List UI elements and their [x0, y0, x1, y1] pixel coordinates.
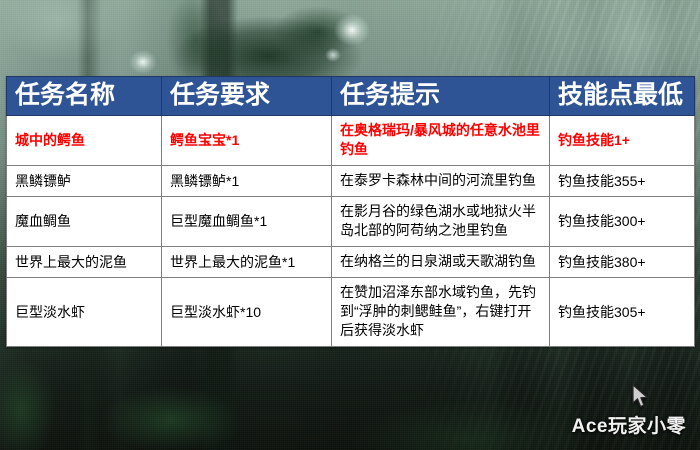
cell-min-skill: 钓鱼技能380+: [550, 247, 695, 278]
table-body: 城中的鳄鱼 鳄鱼宝宝*1 在奥格瑞玛/暴风城的任意水池里钓鱼 钓鱼技能1+ 黑鳞…: [7, 116, 695, 347]
cell-quest-hint: 在纳格兰的日泉湖或天歌湖钓鱼: [332, 247, 550, 278]
cell-min-skill: 钓鱼技能355+: [550, 166, 695, 197]
cell-quest-name: 黑鳞镖鲈: [7, 166, 162, 197]
cell-quest-hint: 在奥格瑞玛/暴风城的任意水池里钓鱼: [332, 116, 550, 166]
cell-min-skill: 钓鱼技能305+: [550, 278, 695, 347]
quest-table: 任务名称 任务要求 任务提示 技能点最低 城中的鳄鱼 鳄鱼宝宝*1 在奥格瑞玛/…: [6, 76, 695, 347]
cell-quest-name: 巨型淡水虾: [7, 278, 162, 347]
cell-min-skill: 钓鱼技能1+: [550, 116, 695, 166]
cell-quest-name: 城中的鳄鱼: [7, 116, 162, 166]
cell-quest-requirement: 巨型淡水虾*10: [162, 278, 332, 347]
cell-quest-requirement: 巨型魔血鲷鱼*1: [162, 197, 332, 247]
table-row: 魔血鲷鱼 巨型魔血鲷鱼*1 在影月谷的绿色湖水或地狱火半岛北部的阿苟纳之池里钓鱼…: [7, 197, 695, 247]
column-header-min-skill: 技能点最低: [550, 77, 695, 116]
cell-quest-hint: 在赞加沼泽东部水域钓鱼，先钓到“浮肿的刺鳃鲑鱼”，右键打开后获得淡水虾: [332, 278, 550, 347]
screenshot-root: 任务名称 任务要求 任务提示 技能点最低 城中的鳄鱼 鳄鱼宝宝*1 在奥格瑞玛/…: [0, 0, 700, 450]
quest-table-container: 任务名称 任务要求 任务提示 技能点最低 城中的鳄鱼 鳄鱼宝宝*1 在奥格瑞玛/…: [6, 76, 694, 347]
column-header-quest-requirement: 任务要求: [162, 77, 332, 116]
cell-min-skill: 钓鱼技能300+: [550, 197, 695, 247]
cell-quest-requirement: 世界上最大的泥鱼*1: [162, 247, 332, 278]
column-header-quest-name: 任务名称: [7, 77, 162, 116]
cell-quest-name: 魔血鲷鱼: [7, 197, 162, 247]
table-row: 世界上最大的泥鱼 世界上最大的泥鱼*1 在纳格兰的日泉湖或天歌湖钓鱼 钓鱼技能3…: [7, 247, 695, 278]
cell-quest-requirement: 鳄鱼宝宝*1: [162, 116, 332, 166]
cell-quest-name: 世界上最大的泥鱼: [7, 247, 162, 278]
table-row: 城中的鳄鱼 鳄鱼宝宝*1 在奥格瑞玛/暴风城的任意水池里钓鱼 钓鱼技能1+: [7, 116, 695, 166]
table-header: 任务名称 任务要求 任务提示 技能点最低: [7, 77, 695, 116]
watermark-label: Ace玩家小零: [572, 411, 686, 438]
column-header-quest-hint: 任务提示: [332, 77, 550, 116]
cell-quest-hint: 在影月谷的绿色湖水或地狱火半岛北部的阿苟纳之池里钓鱼: [332, 197, 550, 247]
mouse-cursor-icon: [630, 384, 652, 410]
table-row: 黑鳞镖鲈 黑鳞镖鲈*1 在泰罗卡森林中间的河流里钓鱼 钓鱼技能355+: [7, 166, 695, 197]
cell-quest-requirement: 黑鳞镖鲈*1: [162, 166, 332, 197]
table-row: 巨型淡水虾 巨型淡水虾*10 在赞加沼泽东部水域钓鱼，先钓到“浮肿的刺鳃鲑鱼”，…: [7, 278, 695, 347]
cell-quest-hint: 在泰罗卡森林中间的河流里钓鱼: [332, 166, 550, 197]
table-header-row: 任务名称 任务要求 任务提示 技能点最低: [7, 77, 695, 116]
